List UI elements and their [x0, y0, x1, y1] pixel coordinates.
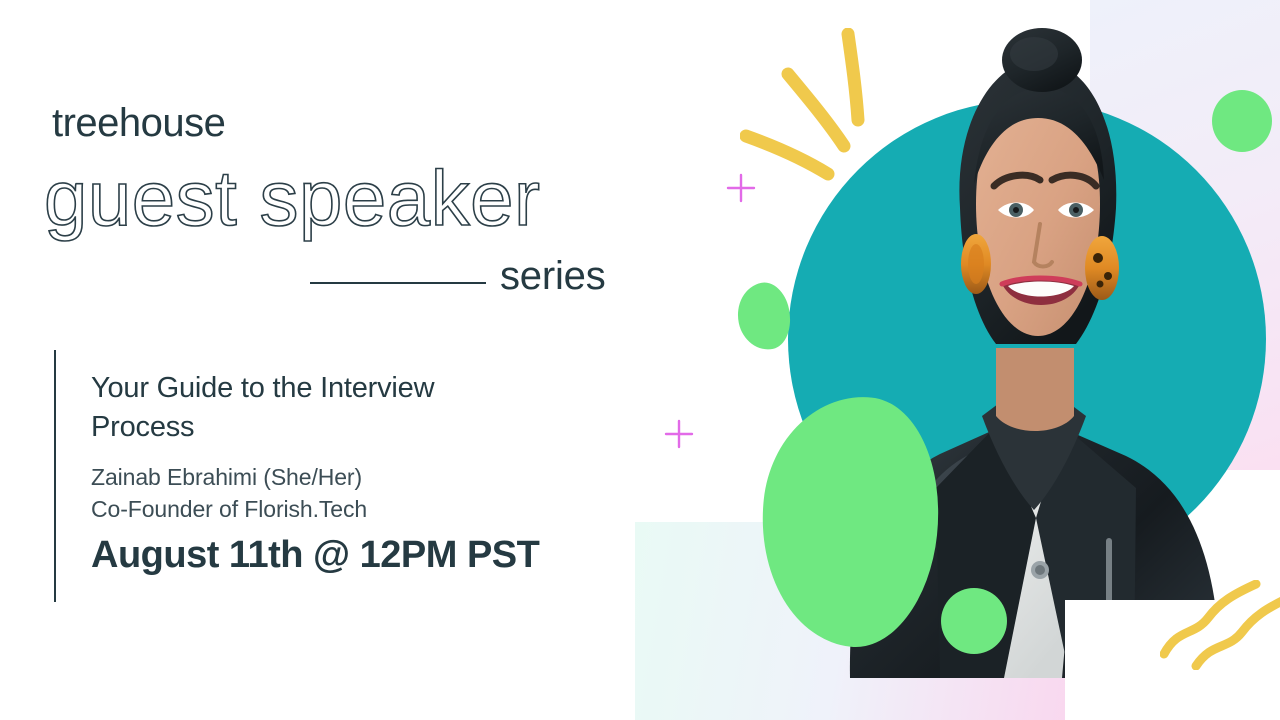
event-datetime: August 11th @ 12PM PST: [91, 534, 539, 578]
yellow-squiggle-lines: [1160, 580, 1280, 670]
speaker-role: Co-Founder of Florish.Tech: [91, 493, 367, 526]
green-blob-small: [732, 278, 797, 354]
green-circle-bottom: [941, 588, 1007, 654]
plus-mark-top: [726, 173, 756, 203]
session-title: Your Guide to the Interview Process: [91, 369, 511, 447]
series-divider-rule: [310, 282, 486, 284]
speaker-name: Zainab Ebrahimi (She/Her): [91, 461, 362, 494]
yellow-sparkle-burst: [740, 28, 910, 188]
text-column: treehouse guest speaker series Your Guid…: [0, 0, 680, 720]
guest-speaker-promo-slide: treehouse guest speaker series Your Guid…: [0, 0, 1280, 720]
brand-name: treehouse: [52, 103, 225, 143]
vertical-accent-rule: [54, 350, 56, 602]
series-word: series: [500, 256, 606, 296]
headline-outline-text: guest speaker: [44, 158, 540, 240]
